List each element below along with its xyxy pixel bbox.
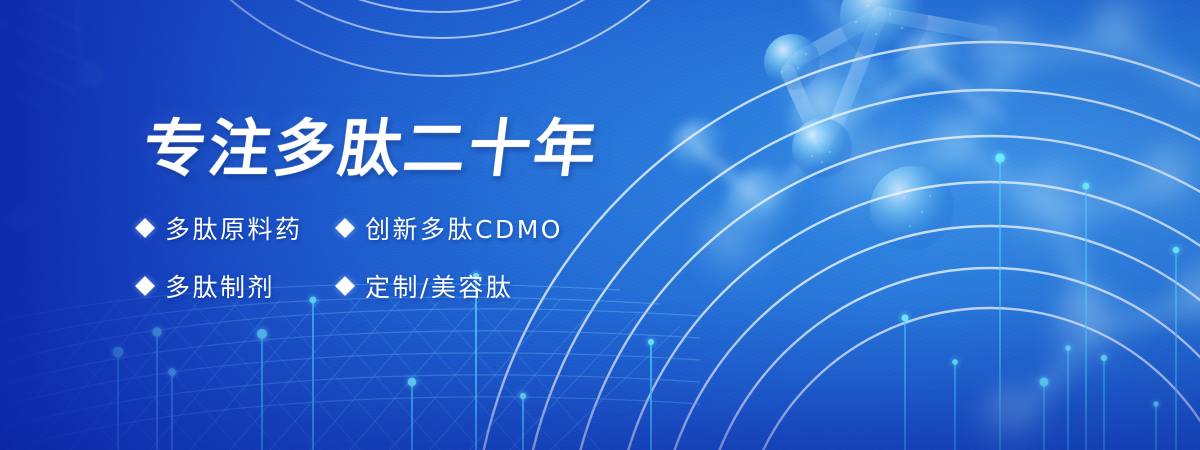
list-item: 多肽制剂: [138, 268, 338, 304]
list-item: 多肽原料药: [138, 210, 338, 246]
diamond-bullet-icon: [135, 276, 155, 296]
list-item: 创新多肽CDMO: [338, 210, 758, 246]
list-item-label: 创新多肽CDMO: [365, 210, 563, 246]
page-title: 专注多肽二十年: [140, 118, 766, 180]
diamond-bullet-icon: [135, 218, 155, 238]
diamond-bullet-icon: [335, 276, 355, 296]
list-item: 定制/美容肽: [338, 268, 758, 304]
list-item-label: 多肽制剂: [165, 268, 275, 304]
peptide-promo-banner: 专注多肽二十年 多肽原料药 创新多肽CDMO 多肽制剂 定制/美容肽: [0, 0, 1200, 450]
list-item-label: 多肽原料药: [165, 210, 303, 246]
diamond-bullet-icon: [335, 218, 355, 238]
banner-content: 专注多肽二十年 多肽原料药 创新多肽CDMO 多肽制剂 定制/美容肽: [138, 118, 758, 304]
list-item-label: 定制/美容肽: [365, 268, 513, 304]
feature-list: 多肽原料药 创新多肽CDMO 多肽制剂 定制/美容肽: [138, 210, 758, 304]
